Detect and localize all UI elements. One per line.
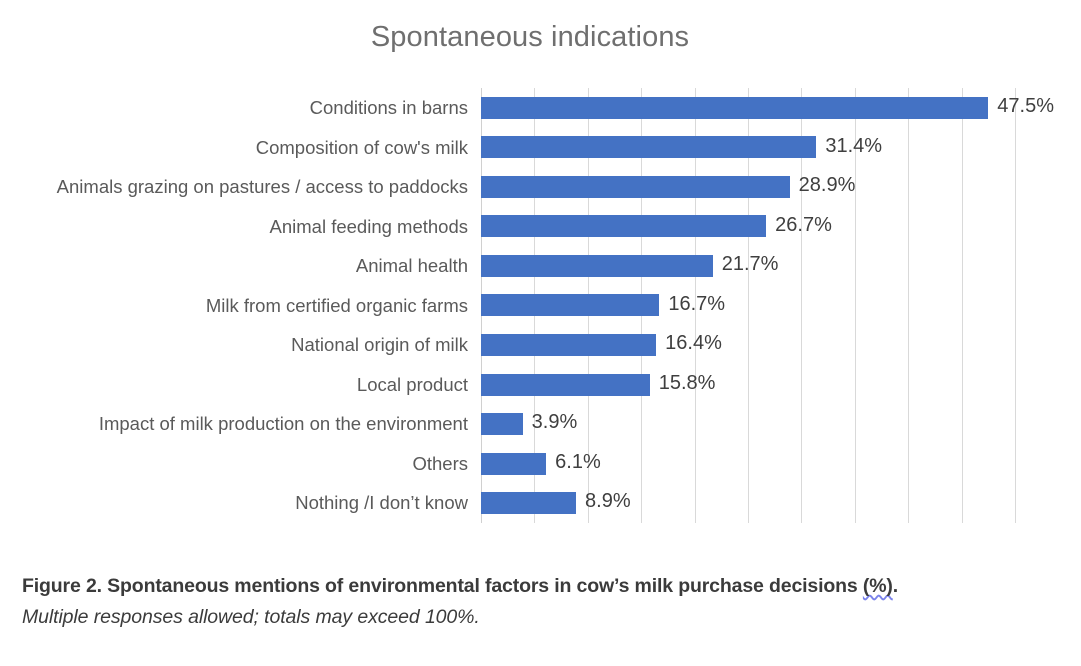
bar-value-label: 31.4% [816, 128, 882, 168]
bar-row: Others6.1% [481, 444, 1015, 484]
bar [481, 176, 790, 198]
category-label: Conditions in barns [310, 88, 468, 128]
bar-rows: Conditions in barns47.5%Composition of c… [481, 88, 1015, 523]
category-label: Milk from certified organic farms [206, 286, 468, 326]
bar-row: National origin of milk16.4% [481, 325, 1015, 365]
chart-title: Spontaneous indications [0, 21, 1060, 54]
bar [481, 492, 576, 514]
figure-root: Spontaneous indications Conditions in ba… [0, 0, 1081, 666]
category-label: Composition of cow's milk [256, 128, 468, 168]
bar [481, 413, 523, 435]
bar [481, 136, 816, 158]
bar-row: Animal feeding methods26.7% [481, 207, 1015, 247]
bar-value-label: 8.9% [576, 483, 631, 523]
category-label: National origin of milk [291, 325, 468, 365]
bar-value-label: 21.7% [713, 246, 779, 286]
bar-value-label: 26.7% [766, 207, 832, 247]
bar [481, 255, 713, 277]
bar [481, 97, 988, 119]
bar-row: Impact of milk production on the environ… [481, 404, 1015, 444]
bar-row: Animal health21.7% [481, 246, 1015, 286]
bar-row: Milk from certified organic farms16.7% [481, 286, 1015, 326]
bar-value-label: 6.1% [546, 444, 601, 484]
bar-value-label: 28.9% [790, 167, 856, 207]
bar-row: Nothing /I don’t know8.9% [481, 483, 1015, 523]
bar [481, 453, 546, 475]
caption-line-1-period: . [893, 575, 898, 597]
bar-row: Animals grazing on pastures / access to … [481, 167, 1015, 207]
category-label: Local product [357, 365, 468, 405]
gridline [1015, 88, 1016, 523]
bar-value-label: 15.8% [650, 365, 716, 405]
bar [481, 294, 659, 316]
category-label: Impact of milk production on the environ… [99, 404, 468, 444]
category-label: Animals grazing on pastures / access to … [57, 167, 468, 207]
bar [481, 374, 650, 396]
caption-misspelled-token: (%) [863, 575, 893, 597]
bar-value-label: 16.7% [659, 286, 725, 326]
bar-chart: Spontaneous indications Conditions in ba… [0, 0, 1081, 545]
bar-value-label: 16.4% [656, 325, 722, 365]
bar-value-label: 3.9% [523, 404, 578, 444]
category-label: Nothing /I don’t know [295, 483, 468, 523]
caption-line-1: Figure 2. Spontaneous mentions of enviro… [22, 571, 1067, 601]
category-label: Others [412, 444, 468, 484]
category-label: Animal feeding methods [270, 207, 468, 247]
bar-value-label: 47.5% [988, 88, 1054, 128]
figure-caption: Figure 2. Spontaneous mentions of enviro… [22, 571, 1067, 633]
bar [481, 215, 766, 237]
caption-line-1-text: Figure 2. Spontaneous mentions of enviro… [22, 575, 863, 597]
bar [481, 334, 656, 356]
caption-line-2: Multiple responses allowed; totals may e… [22, 601, 1067, 633]
plot-area: Conditions in barns47.5%Composition of c… [481, 88, 1015, 523]
category-label: Animal health [356, 246, 468, 286]
bar-row: Local product15.8% [481, 365, 1015, 405]
bar-row: Conditions in barns47.5% [481, 88, 1015, 128]
bar-row: Composition of cow's milk31.4% [481, 128, 1015, 168]
